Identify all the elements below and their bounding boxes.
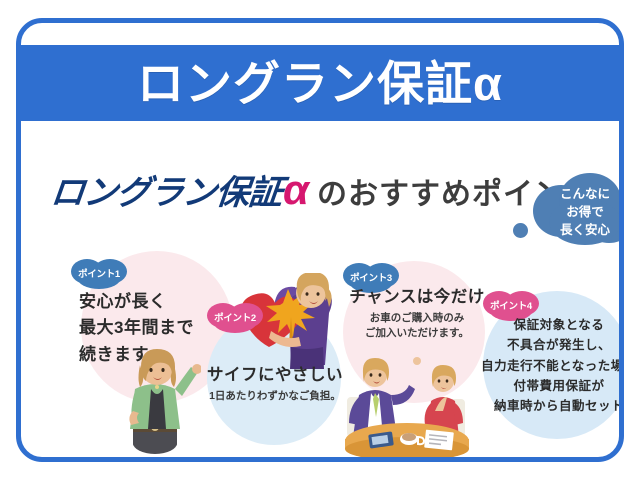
point-1-text: 安心が長く 最大3年間まで 続きます (79, 289, 194, 368)
point-1-badge-label: ポイント1 (71, 266, 127, 280)
point-1-line-1: 安心が長く (79, 289, 194, 315)
point-3-line-1: チャンスは今だけ (343, 285, 491, 311)
point-3-sub-1: お車のご購入時のみ (343, 311, 491, 327)
point-4-text: 保証対象となる 不具合が発生し、 自力走行不能となった場合 付帯費用保証が 納車… (475, 315, 624, 416)
headline: ロングラン保証 α のおすすめポイント (51, 165, 596, 214)
point-3-sub-2: ご加入いただけます。 (343, 326, 491, 342)
point-3-badge-label: ポイント3 (343, 270, 399, 284)
point-1-badge: ポイント1 (71, 259, 127, 289)
point-2-line-1: サイフにやさしい (205, 363, 345, 389)
speech-bubble-tail (513, 223, 528, 238)
point-4-line-4: 付帯費用保証が (475, 376, 624, 396)
cloud-line-2: お得で (529, 203, 624, 221)
page-title: ロングラン保証α (137, 60, 503, 107)
speech-bubble-text: こんなに お得で 長く安心 (529, 185, 624, 239)
warranty-poster: ロングラン保証α ロングラン保証 α のおすすめポイント こんなに お得で 長く… (16, 18, 624, 462)
point-1-line-3: 続きます (79, 342, 194, 368)
point-4-badge-label: ポイント4 (483, 298, 539, 312)
point-4-line-3: 自力走行不能となった場合 (475, 356, 624, 376)
speech-bubble: こんなに お得で 長く安心 (529, 171, 624, 249)
point-3-text: チャンスは今だけ お車のご購入時のみ ご加入いただけます。 (343, 285, 491, 342)
title-band: ロングラン保証α (20, 45, 620, 121)
cloud-line-1: こんなに (529, 185, 624, 203)
couple-at-table-illustration (339, 355, 475, 459)
point-2-text: サイフにやさしい 1日あたりわずかなご負担。 (205, 363, 345, 404)
point-4-line-5: 納車時から自動セット (475, 396, 624, 416)
point-1-line-2: 最大3年間まで (79, 315, 194, 341)
point-2-badge: ポイント2 (207, 303, 263, 333)
cloud-line-3: 長く安心 (529, 221, 624, 239)
headline-brand: ロングラン保証 (48, 165, 284, 214)
point-2-badge-label: ポイント2 (207, 310, 263, 324)
point-4-line-2: 不具合が発生し、 (475, 335, 624, 355)
point-2-sub-1: 1日あたりわずかなご負担。 (205, 389, 345, 405)
point-4-line-1: 保証対象となる (475, 315, 624, 335)
headline-alpha: α (283, 171, 309, 209)
